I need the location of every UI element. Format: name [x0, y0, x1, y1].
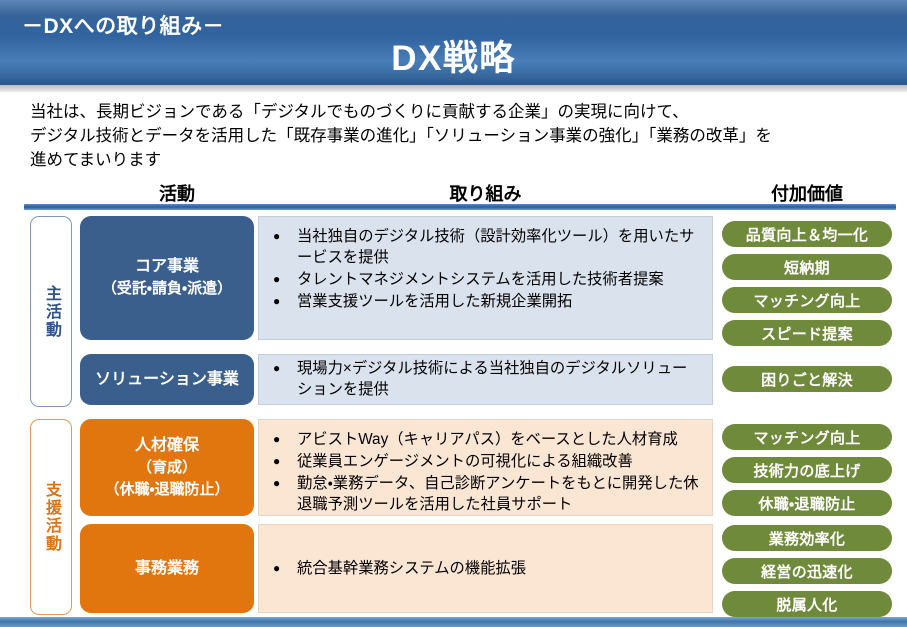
activity-box-solution-business[interactable]: ソリューション事業 [80, 354, 254, 405]
list-item: 従業員エンゲージメントの可視化による組織改善 [271, 451, 702, 472]
value-pill-quality[interactable]: 品質向上＆均一化 [722, 221, 892, 247]
activity-box-human-resources[interactable]: 人材確保 （育成） （休職・退職防止） [80, 419, 254, 516]
intro-line-2: デジタル技術とデータを活用した「既存事業の進化」「ソリューション事業の強化」「業… [30, 124, 890, 148]
list-item: 当社独自のデジタル技術（設計効率化ツール）を用いたサービスを提供 [271, 226, 702, 268]
activity-hr-subtitle-1: （育成） [137, 457, 197, 479]
initiative-box-office-work: 統合基幹業務システムの機能拡張 [258, 524, 713, 613]
list-item: 勤怠・業務データ、自己診断アンケートをもとに開発した休退職予測ツールを活用した社… [271, 473, 702, 515]
activity-office-title: 事務業務 [135, 558, 199, 580]
initiative-box-solution-business: 現場力×デジタル技術による当社独自のデジタルソリューションを提供 [258, 354, 713, 405]
value-pill-problem-solving[interactable]: 困りごと解決 [722, 366, 892, 392]
value-pill-retention[interactable]: 休職・退職防止 [722, 490, 892, 516]
list-item: 統合基幹業務システムの機能拡張 [271, 558, 702, 579]
initiative-bullets-core: 当社独自のデジタル技術（設計効率化ツール）を用いたサービスを提供 タレントマネジ… [271, 226, 702, 312]
activity-hr-subtitle-2: （休職・退職防止） [104, 479, 229, 501]
activity-box-core-business[interactable]: コア事業 （受託・請負・派遣） [80, 216, 254, 340]
value-pill-de-personalize[interactable]: 脱属人化 [722, 591, 892, 617]
column-header-activity: 活動 [92, 180, 262, 206]
slide-root: －DXへの取り組み－ DX戦略 当社は、長期ビジョンである「デジタルでものづくり… [0, 0, 907, 627]
activity-core-subtitle: （受託・請負・派遣） [102, 278, 232, 300]
page-title: DX戦略 [0, 30, 907, 81]
value-pill-matching-main[interactable]: マッチング向上 [722, 287, 892, 313]
header-divider-rule [24, 204, 896, 210]
list-item: 営業支援ツールを活用した新規企業開拓 [271, 291, 702, 312]
value-pill-fast-management[interactable]: 経営の迅速化 [722, 558, 892, 584]
activity-hr-title: 人材確保 [135, 435, 199, 457]
intro-paragraph: 当社は、長期ビジョンである「デジタルでものづくりに貢献する企業」の実現に向けて、… [30, 100, 890, 172]
value-pill-efficiency[interactable]: 業務効率化 [722, 525, 892, 551]
initiative-bullets-solution: 現場力×デジタル技術による当社独自のデジタルソリューションを提供 [271, 358, 702, 401]
activity-solution-title: ソリューション事業 [95, 369, 239, 391]
value-pill-skill-uplift[interactable]: 技術力の底上げ [722, 457, 892, 483]
intro-line-3: 進めてまいります [30, 148, 890, 172]
value-pill-matching-support[interactable]: マッチング向上 [722, 424, 892, 450]
list-item: 現場力×デジタル技術による当社独自のデジタルソリューションを提供 [271, 358, 702, 400]
list-item: アビストWay（キャリアパス）をベースとした人材育成 [271, 429, 702, 450]
initiative-bullets-hr: アビストWay（キャリアパス）をベースとした人材育成 従業員エンゲージメントの可… [271, 429, 702, 515]
header-underline [0, 85, 907, 92]
footer-band [0, 617, 907, 627]
intro-line-1: 当社は、長期ビジョンである「デジタルでものづくりに貢献する企業」の実現に向けて、 [30, 100, 890, 124]
initiative-box-human-resources: アビストWay（キャリアパス）をベースとした人材育成 従業員エンゲージメントの可… [258, 419, 713, 516]
activity-core-title: コア事業 [135, 256, 199, 278]
column-header-initiative: 取り組み [258, 180, 713, 206]
column-header-value: 付加価値 [716, 180, 898, 206]
list-item: タレントマネジメントシステムを活用した技術者提案 [271, 269, 702, 290]
value-pill-speed-proposal[interactable]: スピード提案 [722, 320, 892, 346]
activity-box-office-work[interactable]: 事務業務 [80, 524, 254, 613]
group-label-support-activities: 支援活動 [30, 419, 72, 615]
initiative-box-core-business: 当社独自のデジタル技術（設計効率化ツール）を用いたサービスを提供 タレントマネジ… [258, 216, 713, 340]
value-pill-short-delivery[interactable]: 短納期 [722, 254, 892, 280]
group-label-main-activities: 主活動 [30, 216, 72, 407]
initiative-bullets-office: 統合基幹業務システムの機能拡張 [271, 558, 702, 580]
